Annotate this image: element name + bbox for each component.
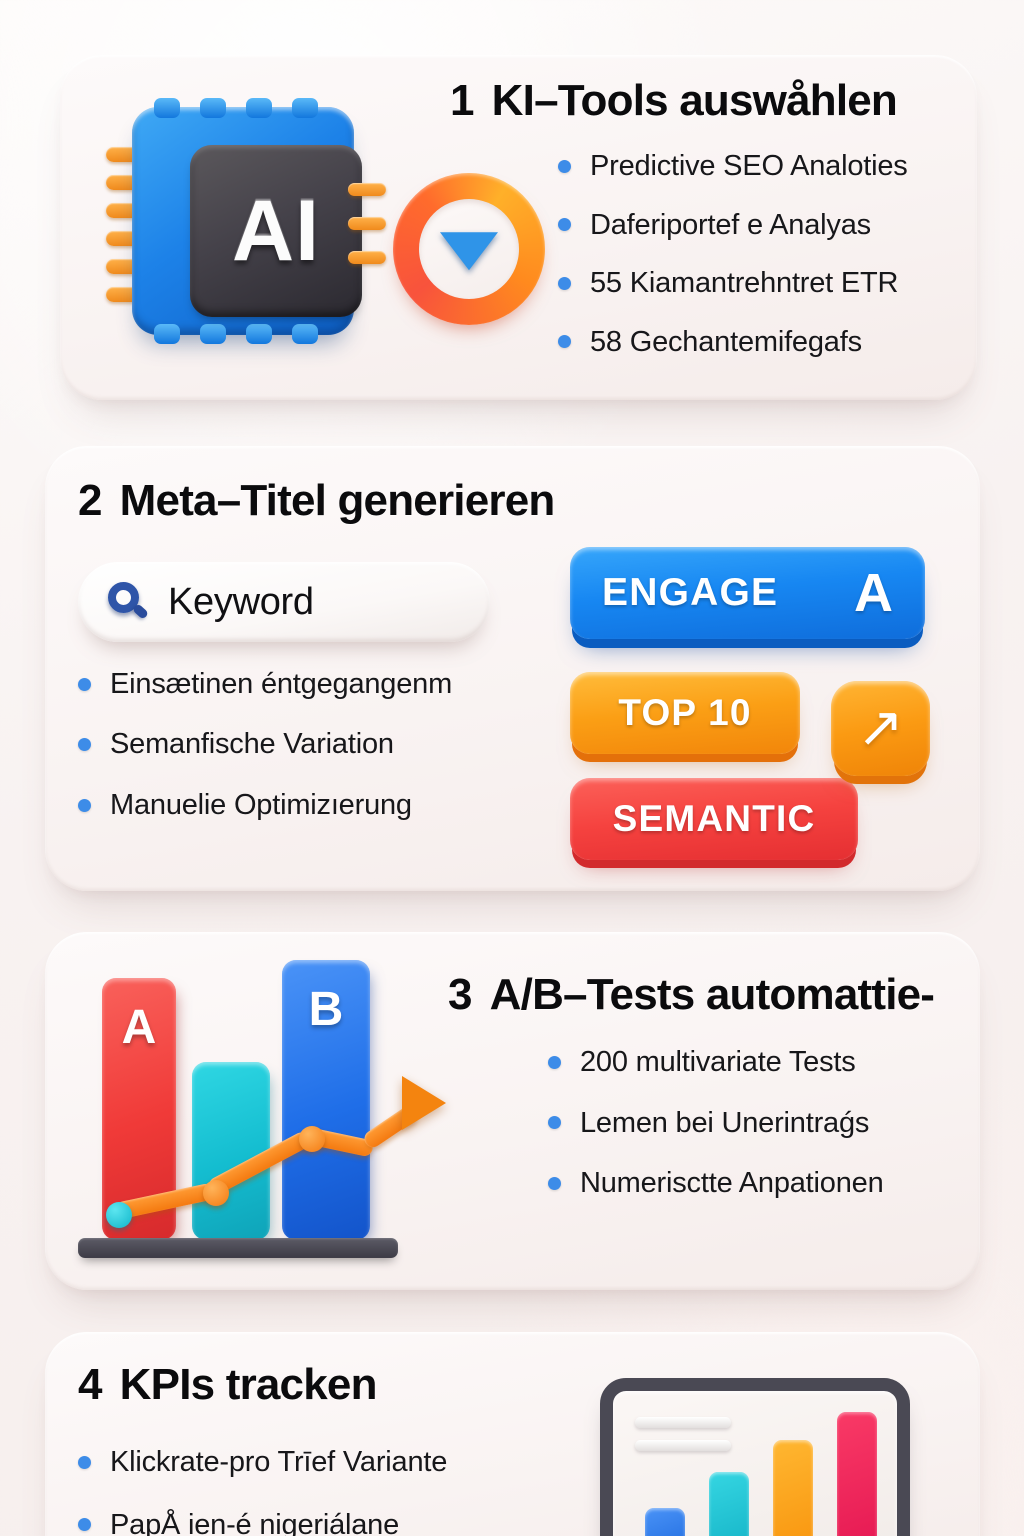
bullet-text: Predictive SEO Analoties <box>590 150 908 182</box>
chip-ridge-top-1 <box>154 98 180 118</box>
bullet-text: 200 multivariate Tests <box>580 1046 856 1078</box>
chip-ridge-bottom-2 <box>200 324 226 344</box>
list-item: Daferiportef e Analyas <box>558 209 908 241</box>
dashboard-text-line-1 <box>635 1417 731 1428</box>
bullet-text: Daferiportef e Analyas <box>590 209 871 241</box>
list-item: 55 Kiamantrehntret ETR <box>558 267 908 299</box>
bullet-dot-icon <box>78 1456 91 1469</box>
step-2-heading-block: 2 Meta–Titel generieren <box>78 478 554 524</box>
step-4-bullet-list: Klickrate-pro Trīef Variante PapÅ ien-é … <box>78 1446 447 1536</box>
pill-semantic-button[interactable]: SEMANTIC <box>570 778 858 860</box>
infographic-page: AI 1 KI–Tools auswåhlen Predictive SEO A… <box>0 0 1024 1536</box>
step-3-bullet-list: 200 multivariate Tests Lemen bei Unerint… <box>548 1046 934 1199</box>
chip-pin-right-1 <box>348 183 386 196</box>
ab-test-chart-icon: A B <box>70 960 470 1280</box>
chip-ridge-bottom-3 <box>246 324 272 344</box>
bullet-dot-icon <box>78 678 91 691</box>
pill-top10-label: TOP 10 <box>618 692 751 734</box>
bullet-dot-icon <box>558 335 571 348</box>
chip-ai-label: AI <box>232 182 320 281</box>
list-item: 58 Gechantemifegafs <box>558 326 908 358</box>
bullet-text: Einsætinen éntgegangenm <box>110 668 452 700</box>
step-2-number: 2 <box>78 478 102 524</box>
bullet-text: PapÅ ien-é nigeriálane <box>110 1509 399 1536</box>
chip-ridge-top-3 <box>246 98 272 118</box>
step-1-title: KI–Tools auswåhlen <box>492 78 897 124</box>
dashboard-text-line-2 <box>635 1440 731 1451</box>
step-1-bullet-list: Predictive SEO Analoties Daferiportef e … <box>558 150 908 358</box>
bullet-text: 55 Kiamantrehntret ETR <box>590 267 898 299</box>
bullet-dot-icon <box>558 160 571 173</box>
search-icon-handle <box>132 603 149 620</box>
kpi-dashboard-icon <box>600 1378 910 1536</box>
step-1-number: 1 <box>450 78 474 124</box>
bullet-dot-icon <box>558 277 571 290</box>
step-3-number: 3 <box>448 972 472 1018</box>
step-1-heading: 1 KI–Tools auswåhlen <box>450 78 908 124</box>
step-2-bullet-list: Einsætinen éntgegangenm Semanfische Vari… <box>78 668 452 821</box>
step-1-content: 1 KI–Tools auswåhlen Predictive SEO Anal… <box>450 78 908 384</box>
pill-engage-button[interactable]: ENGAGE A <box>570 547 925 639</box>
chip-pin-right-3 <box>348 251 386 264</box>
search-icon <box>108 582 148 622</box>
trend-node-start <box>106 1202 132 1228</box>
search-input-value: Keyword <box>168 581 314 624</box>
list-item: Predictive SEO Analoties <box>558 150 908 182</box>
trend-arrow-button[interactable]: ↗ <box>831 681 930 776</box>
bullet-text: Klickrate-pro Trīef Variante <box>110 1446 447 1478</box>
trend-node-peak <box>299 1126 325 1152</box>
bullet-text: Semanfische Variation <box>110 728 394 760</box>
chip-pin-right-2 <box>348 217 386 230</box>
arrow-up-right-icon: ↗ <box>857 699 904 755</box>
pill-engage-label: ENGAGE <box>602 571 778 615</box>
keyword-search-input[interactable]: Keyword <box>78 562 490 642</box>
list-item: Klickrate-pro Trīef Variante <box>78 1446 447 1478</box>
pill-top10-button[interactable]: TOP 10 <box>570 672 800 754</box>
pill-semantic-label: SEMANTIC <box>613 798 816 840</box>
step-4-number: 4 <box>78 1362 102 1408</box>
bullet-text: Manuelie Optimizıerung <box>110 789 412 821</box>
step-4-content: 4 KPIs tracken Klickrate-pro Trīef Varia… <box>78 1362 447 1536</box>
pill-engage-badge: A <box>854 562 893 624</box>
list-item: 200 multivariate Tests <box>548 1046 934 1078</box>
bullet-dot-icon <box>78 1518 91 1531</box>
chip-ridge-top-4 <box>292 98 318 118</box>
bullet-dot-icon <box>558 218 571 231</box>
dashboard-bar-2 <box>709 1472 749 1536</box>
bullet-dot-icon <box>78 738 91 751</box>
step-3-heading: 3 A/B–Tests automattie- <box>448 972 934 1018</box>
bullet-text: Numerisctte Anpationen <box>580 1167 884 1199</box>
bullet-dot-icon <box>548 1177 561 1190</box>
step-2-heading: 2 Meta–Titel generieren <box>78 478 554 524</box>
step-2-content: Einsætinen éntgegangenm Semanfische Vari… <box>78 668 452 849</box>
chip-ridge-top-2 <box>200 98 226 118</box>
bullet-text: Lemen bei Unerintraǵs <box>580 1107 869 1139</box>
chip-ridge-bottom-1 <box>154 324 180 344</box>
step-4-heading: 4 KPIs tracken <box>78 1362 447 1408</box>
trend-arrow-head-icon <box>402 1076 446 1130</box>
dashboard-bar-1 <box>645 1508 685 1536</box>
chart-base-platform <box>78 1238 398 1258</box>
bullet-dot-icon <box>78 799 91 812</box>
step-2-title: Meta–Titel generieren <box>120 478 555 524</box>
list-item: Numerisctte Anpationen <box>548 1167 934 1199</box>
bullet-dot-icon <box>548 1116 561 1129</box>
chip-die: AI <box>190 145 362 317</box>
step-3-title: A/B–Tests automattie- <box>490 972 934 1018</box>
chip-body: AI <box>132 107 354 335</box>
step-4-title: KPIs tracken <box>120 1362 377 1408</box>
list-item: Lemen bei Unerintraǵs <box>548 1107 934 1139</box>
list-item: PapÅ ien-é nigeriálane <box>78 1509 447 1536</box>
list-item: Einsætinen éntgegangenm <box>78 668 452 700</box>
bullet-dot-icon <box>548 1056 561 1069</box>
chip-ridge-bottom-4 <box>292 324 318 344</box>
ai-chip-icon: AI <box>100 95 400 355</box>
chart-bar-b: B <box>282 960 370 1240</box>
bullet-text: 58 Gechantemifegafs <box>590 326 862 358</box>
dashboard-bar-3 <box>773 1440 813 1536</box>
chart-bar-middle <box>192 1062 270 1240</box>
step-3-content: 3 A/B–Tests automattie- 200 multivariate… <box>448 972 934 1228</box>
list-item: Semanfische Variation <box>78 728 452 760</box>
dashboard-bar-4 <box>837 1412 877 1536</box>
trend-node-mid <box>203 1180 229 1206</box>
list-item: Manuelie Optimizıerung <box>78 789 452 821</box>
chart-bar-b-label: B <box>309 982 344 1240</box>
